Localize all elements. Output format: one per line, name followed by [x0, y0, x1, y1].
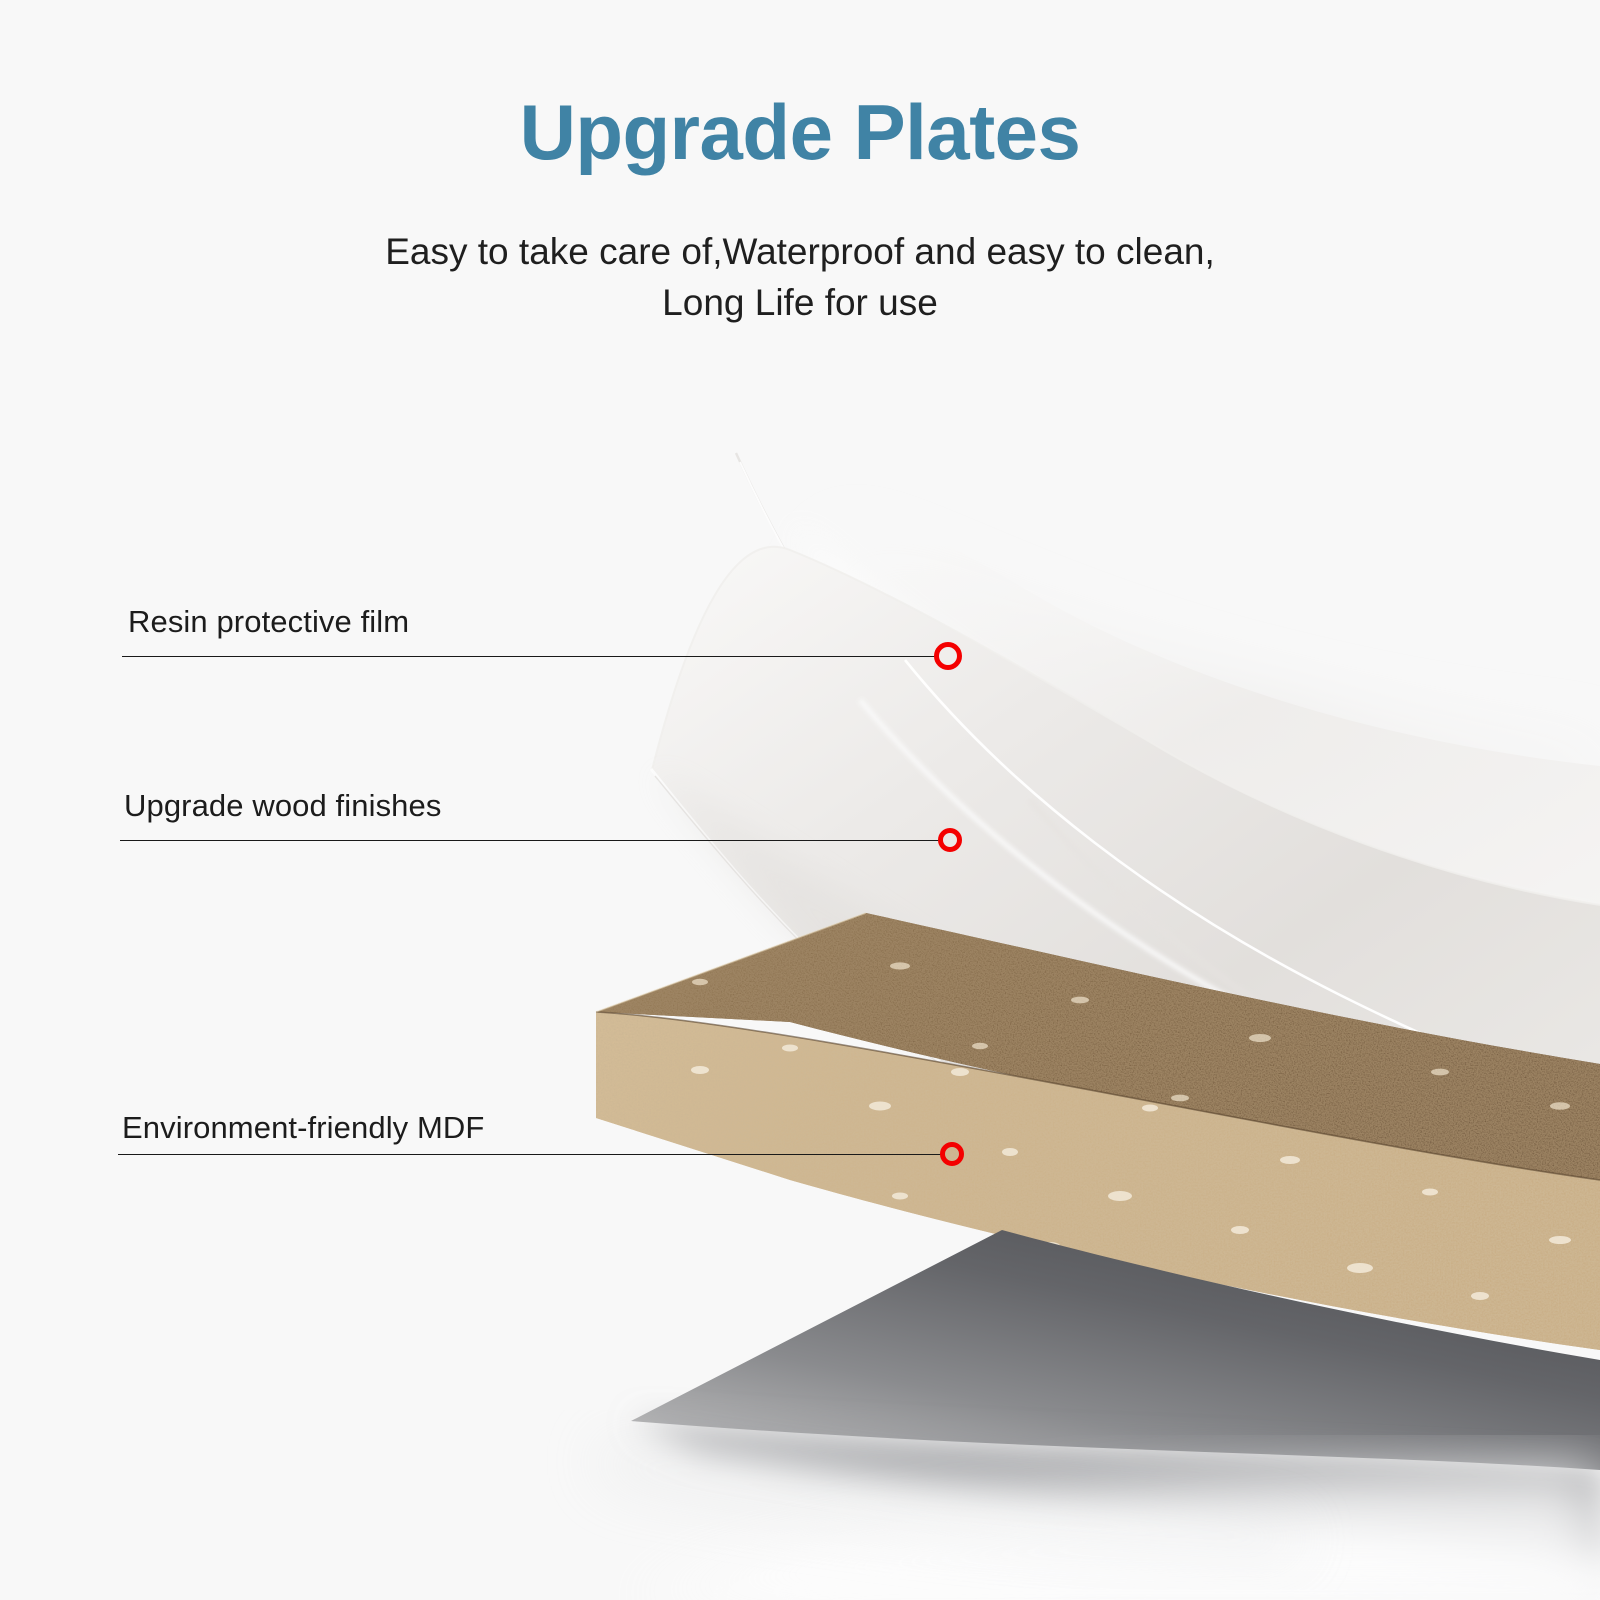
illustration-canvas: Upgrade Plates Easy to take care of,Wate… [0, 0, 1600, 1600]
leader-line [118, 1154, 942, 1155]
leader-line [120, 840, 942, 841]
subtitle-line-2: Long Life for use [0, 277, 1600, 328]
callout-label: Resin protective film [128, 604, 409, 640]
red-ring-marker-icon [934, 642, 962, 670]
red-ring-marker-icon [940, 1142, 964, 1166]
subtitle-line-1: Easy to take care of,Waterproof and easy… [0, 226, 1600, 277]
page-title: Upgrade Plates [0, 92, 1600, 174]
red-ring-marker-icon [938, 828, 962, 852]
callout-label: Environment-friendly MDF [122, 1110, 484, 1146]
page-subtitle: Easy to take care of,Waterproof and easy… [0, 226, 1600, 328]
leader-line [122, 656, 938, 657]
callout-label: Upgrade wood finishes [124, 788, 441, 824]
